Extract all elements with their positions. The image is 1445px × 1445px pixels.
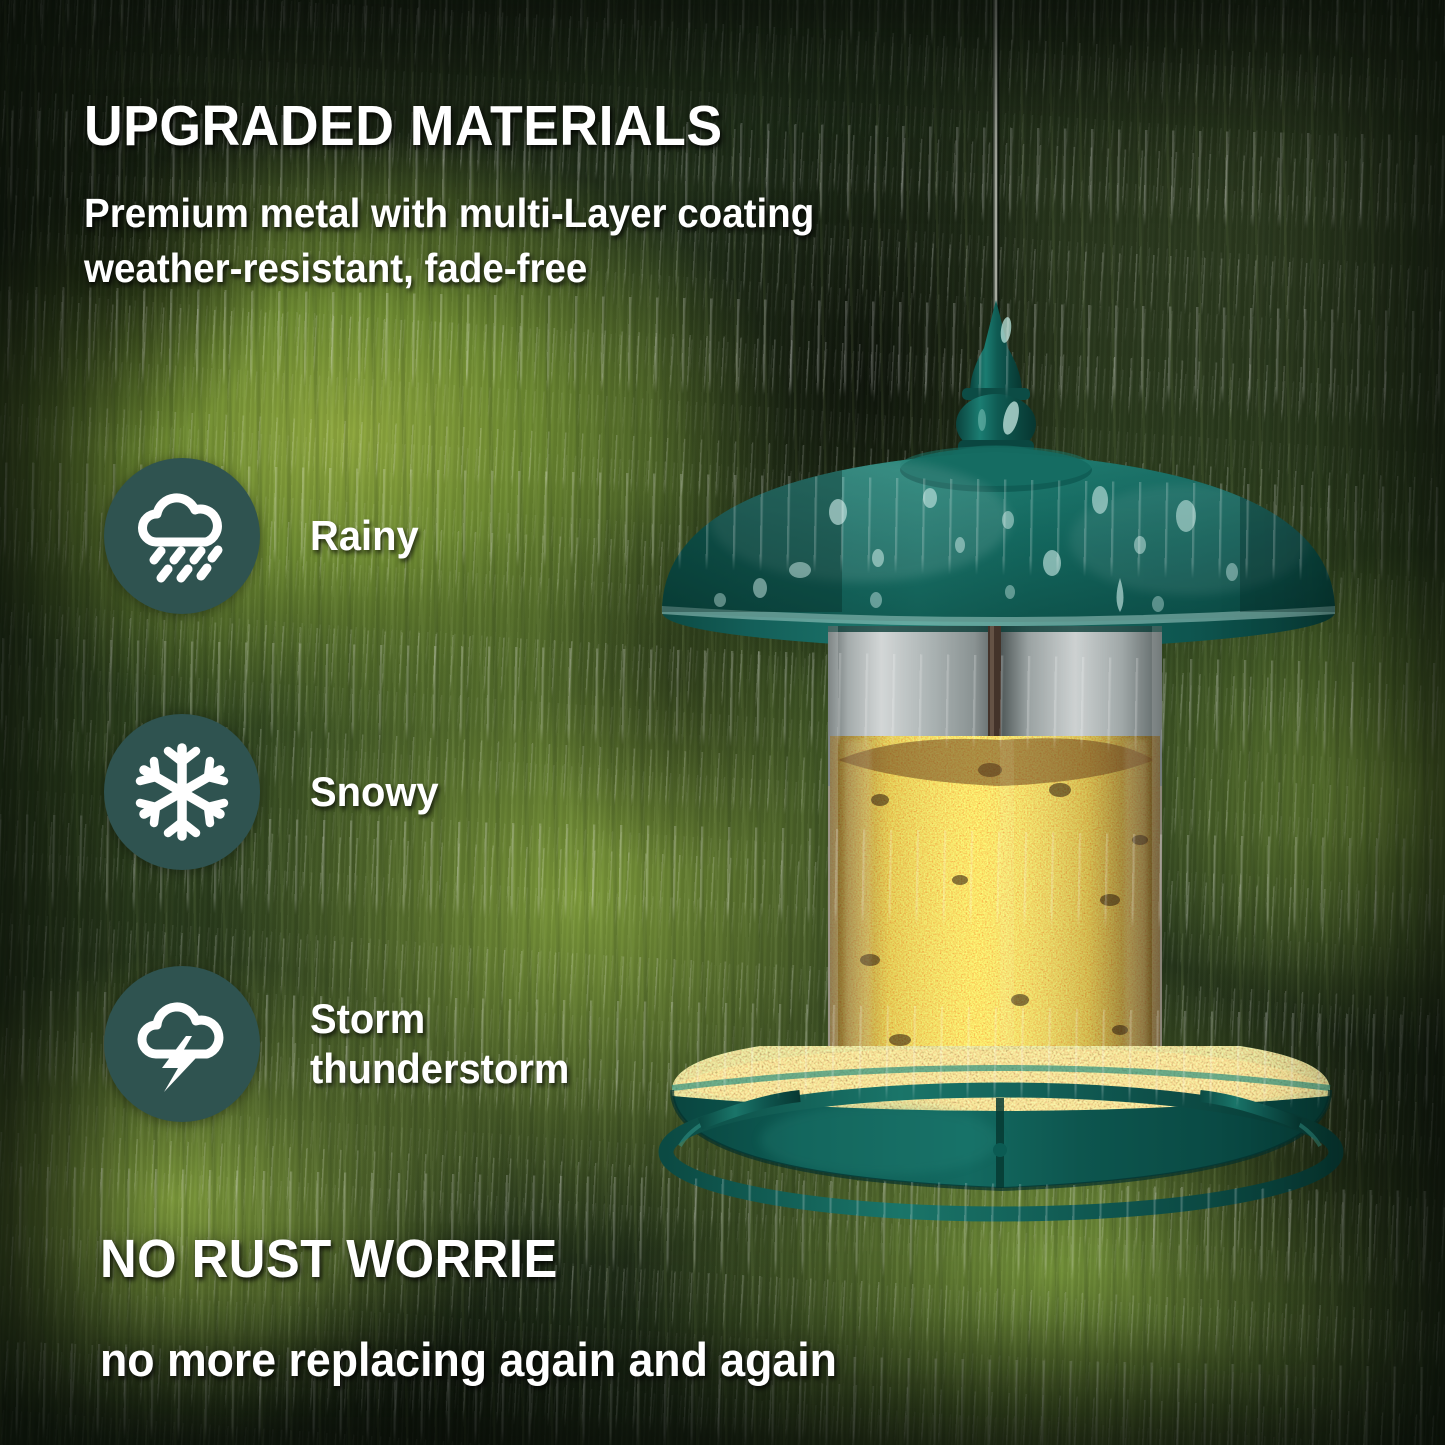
feature-label-text-2: thunderstorm [310,1044,569,1094]
product-marketing-image: UPGRADED MATERIALS Premium metal with mu… [0,0,1445,1445]
feature-icon-badge [104,458,260,614]
feature-label: Rainy [310,511,419,561]
thunderstorm-cloud-icon [130,992,234,1096]
feature-item-storm: Storm thunderstorm [104,966,583,1122]
feature-label: Snowy [310,767,439,817]
feature-label-text: Rainy [310,512,419,559]
page-title: UPGRADED MATERIALS [84,98,892,155]
feature-label-text: Storm [310,995,425,1042]
bottom-headline: NO RUST WORRIE [100,1228,558,1290]
subheadline-line-1: Premium metal with multi-Layer coating [84,186,911,241]
feature-label-text: Snowy [310,768,439,815]
subheadline-line-2: weather-resistant, fade-free [84,241,911,296]
snowflake-icon [130,740,234,844]
rain-cloud-icon [130,484,234,588]
feature-label: Storm thunderstorm [310,994,569,1095]
bottom-subheadline: no more replacing again and again [100,1332,837,1387]
feature-item-rainy: Rainy [104,458,424,614]
feature-item-snowy: Snowy [104,714,445,870]
feature-icon-badge [104,714,260,870]
feature-icon-badge [104,966,260,1122]
subheadline: Premium metal with multi-Layer coating w… [84,186,911,295]
